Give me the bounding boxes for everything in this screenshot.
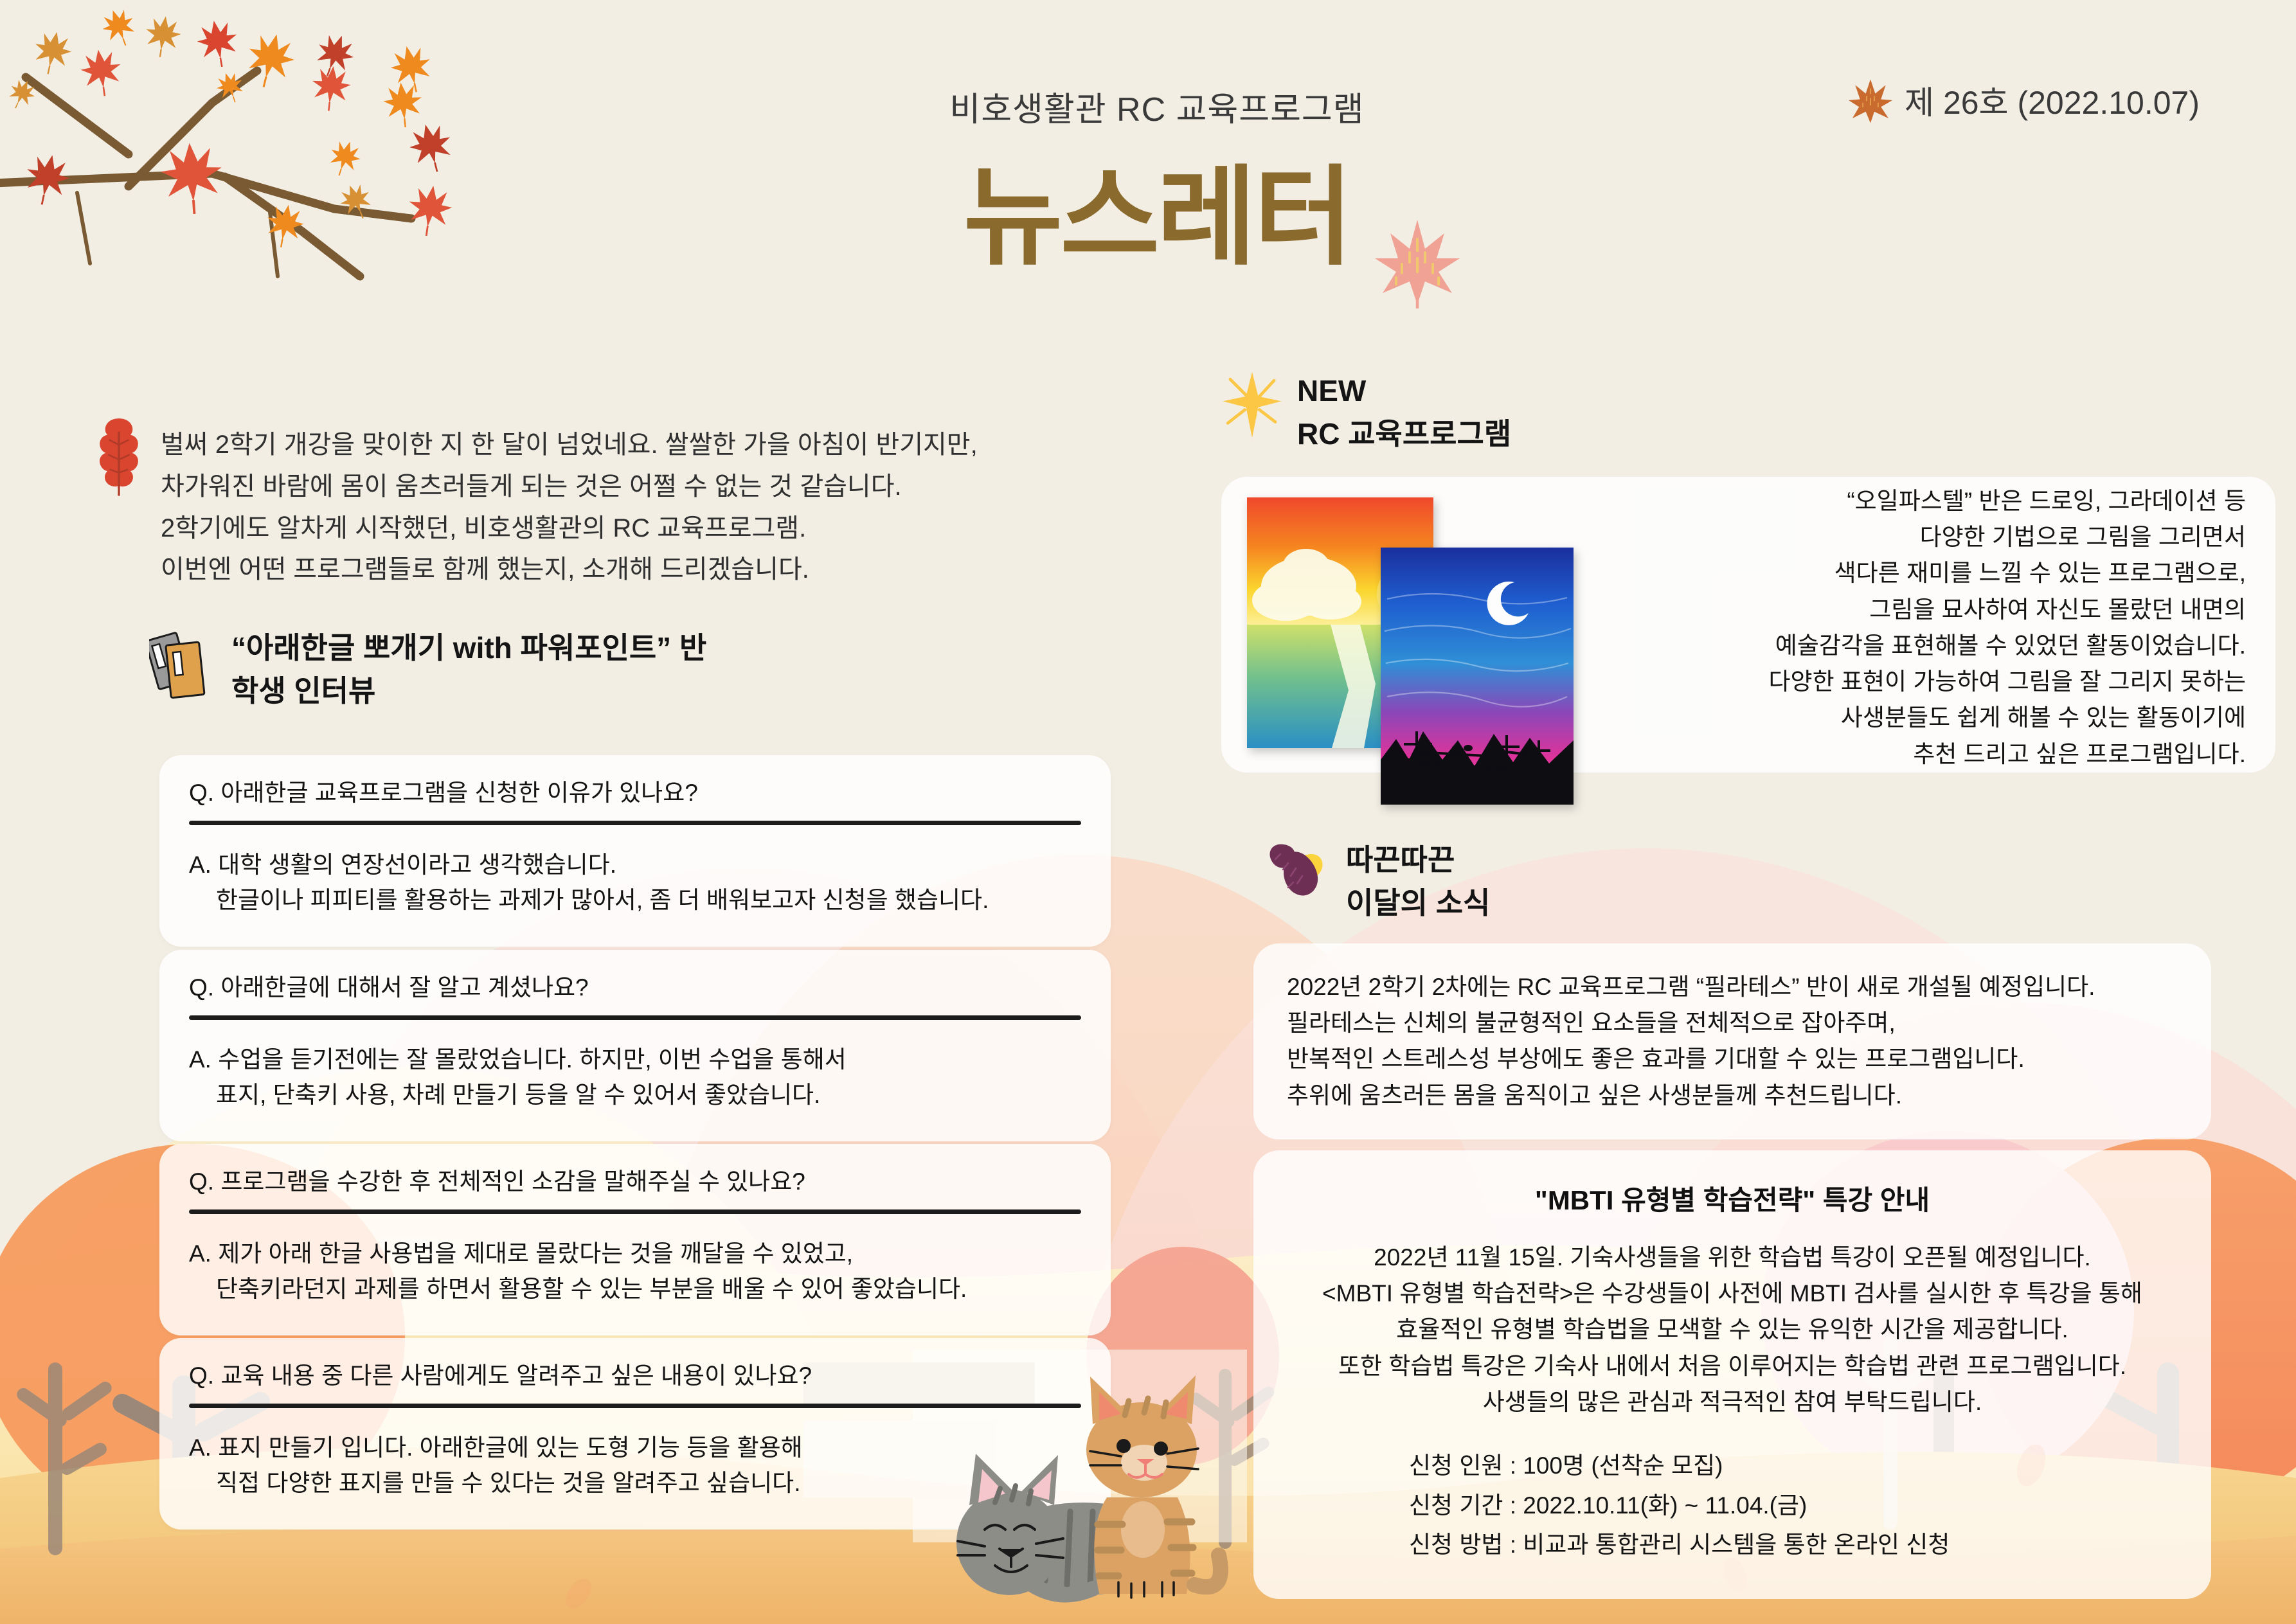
newprogram-line-2: 다양한 기법으로 그림을 그리면서: [1920, 524, 2246, 550]
news-section-heading: 따끈따끈 이달의 소식: [1265, 839, 1490, 924]
maple-leaf-icon: [1369, 212, 1466, 308]
news-body: 2022년 2학기 2차에는 RC 교육프로그램 “필라테스” 반이 새로 개설…: [1287, 969, 2178, 1114]
books-icon: [149, 627, 217, 701]
apply-method: 신청 방법 : 비교과 통합관리 시스템을 통한 온라인 신청: [1409, 1525, 2178, 1564]
news-heading-line2: 이달의 소식: [1346, 882, 1490, 925]
qa-answer-line1: A. 수업을 듣기전에는 잘 몰랐었습니다. 하지만, 이번 수업을 통해서: [189, 1046, 847, 1073]
issue-label: 제 26호 (2022.10.07): [1905, 77, 2200, 123]
qa-question: Q. 아래한글 교육프로그램을 신청한 이유가 있나요?: [189, 777, 1081, 809]
news-line-2: 필라테스는 신체의 불균형적인 요소들을 전체적으로 잡아주며,: [1287, 1010, 1896, 1036]
intro-line-2: 차가워진 바람에 몸이 움츠러들게 되는 것은 어쩔 수 없는 것 같습니다.: [161, 466, 1093, 508]
qa-question: Q. 아래한글에 대해서 잘 알고 계셨나요?: [189, 972, 1081, 1004]
interview-section-heading: “아래한글 뽀개기 with 파워포인트” 반 학생 인터뷰: [149, 627, 706, 712]
qa-answer: A. 수업을 듣기전에는 잘 몰랐었습니다. 하지만, 이번 수업을 통해서 표…: [189, 1042, 1081, 1113]
intro-paragraph: 벌써 2학기 개강을 맞이한 지 한 달이 넘었네요. 쌀쌀한 가을 아침이 반…: [161, 424, 1093, 591]
newprogram-body: “오일파스텔” 반은 드로잉, 그라데이션 등 다양한 기법으로 그림을 그리면…: [1616, 483, 2246, 772]
divider: [189, 821, 1081, 825]
mbti-apply-info: 신청 인원 : 100명 (선착순 모집) 신청 기간 : 2022.10.11…: [1287, 1446, 2178, 1564]
newprogram-line-6: 다양한 표현이 가능하여 그림을 잘 그리지 못하는: [1769, 668, 2246, 695]
qa-card: Q. 프로그램을 수강한 후 전체적인 소감을 말해주실 수 있나요? A. 제…: [159, 1144, 1111, 1335]
newprogram-line-8: 추천 드리고 싶은 프로그램입니다.: [1913, 741, 2246, 767]
news-line-1: 2022년 2학기 2차에는 RC 교육프로그램 “필라테스” 반이 새로 개설…: [1287, 974, 2095, 1000]
mbti-line-3: 효율적인 유형별 학습법을 모색할 수 있는 유익한 시간을 제공합니다.: [1396, 1316, 2068, 1343]
sweet-potato-icon: [1265, 839, 1332, 898]
newprogram-line-5: 예술감각을 표현해볼 수 있었던 활동이었습니다.: [1775, 632, 2246, 659]
mbti-title: "MBTI 유형별 학습전략" 특강 안내: [1287, 1179, 2178, 1218]
qa-answer: A. 제가 아래 한글 사용법을 제대로 몰랐다는 것을 깨달을 수 있었고, …: [189, 1236, 1081, 1307]
mbti-body: 2022년 11월 15일. 기숙사생들을 위한 학습법 특강이 오픈될 예정입…: [1287, 1240, 2178, 1420]
newprogram-panel: “오일파스텔” 반은 드로잉, 그라데이션 등 다양한 기법으로 그림을 그리면…: [1221, 477, 2275, 772]
intro-line-4: 이번엔 어떤 프로그램들로 함께 했는지, 소개해 드리겠습니다.: [161, 549, 1093, 591]
kicker-text: 비호생활관 RC 교육프로그램: [848, 82, 1466, 130]
qa-answer-line2: 단축키라던지 과제를 하면서 활용할 수 있는 부분을 배울 수 있어 좋았습니…: [189, 1271, 1081, 1307]
orange-tabby-cat-illustration: [1086, 1375, 1221, 1598]
intro-line-1: 벌써 2학기 개강을 맞이한 지 한 달이 넘었네요. 쌀쌀한 가을 아침이 반…: [161, 424, 1093, 466]
newprogram-line-3: 색다른 재미를 느낄 수 있는 프로그램으로,: [1834, 560, 2246, 586]
mbti-line-2: <MBTI 유형별 학습전략>은 수강생들이 사전에 MBTI 검사를 실시한 …: [1322, 1280, 2142, 1307]
divider: [189, 1015, 1081, 1020]
qa-answer-line1: A. 제가 아래 한글 사용법을 제대로 몰랐다는 것을 깨달을 수 있었고,: [189, 1240, 853, 1267]
qa-answer-line1: A. 대학 생활의 연장선이라고 생각했습니다.: [189, 852, 616, 878]
newprogram-heading-line1: NEW: [1297, 370, 1511, 413]
news-line-4: 추위에 움츠러든 몸을 움직이고 싶은 사생분들께 추천드립니다.: [1287, 1082, 1902, 1109]
qa-answer: A. 대학 생활의 연장선이라고 생각했습니다. 한글이나 피피티를 활용하는 …: [189, 847, 1081, 918]
apply-period: 신청 기간 : 2022.10.11(화) ~ 11.04.(금): [1409, 1486, 2178, 1525]
news-panel: 2022년 2학기 2차에는 RC 교육프로그램 “필라테스” 반이 새로 개설…: [1253, 943, 2211, 1139]
oak-leaf-icon: [93, 415, 145, 497]
news-line-3: 반복적인 스트레스성 부상에도 좋은 효과를 기대할 수 있는 프로그램입니다.: [1287, 1046, 2025, 1072]
newprogram-line-4: 그림을 묘사하여 자신도 몰랐던 내면의: [1869, 596, 2246, 623]
mbti-line-5: 사생들의 많은 관심과 적극적인 참여 부탁드립니다.: [1483, 1389, 1982, 1415]
newprogram-heading-line2: RC 교육프로그램: [1297, 413, 1511, 456]
page-header: 비호생활관 RC 교육프로그램 뉴스레터 제 26호 (2022.10.07): [0, 0, 2296, 334]
apply-headcount: 신청 인원 : 100명 (선착순 모집): [1409, 1446, 2178, 1485]
cats-illustration: [938, 1337, 1337, 1613]
issue-number: 제 26호 (2022.10.07): [1847, 76, 2200, 125]
newprogram-line-1: “오일파스텔” 반은 드로잉, 그라데이션 등: [1847, 488, 2246, 514]
qa-answer-line2: 표지, 단축키 사용, 차례 만들기 등을 알 수 있어서 좋았습니다.: [189, 1077, 1081, 1113]
newprogram-line-7: 사생분들도 쉽게 해볼 수 있는 활동이기에: [1841, 704, 2246, 731]
qa-question: Q. 프로그램을 수강한 후 전체적인 소감을 말해주실 수 있나요?: [189, 1166, 1081, 1198]
divider: [189, 1209, 1081, 1214]
oil-pastel-night-sky-forest: [1381, 548, 1574, 805]
qa-answer-line1: A. 표지 만들기 입니다. 아래한글에 있는 도형 기능 등을 활용해: [189, 1434, 803, 1461]
intro-line-3: 2학기에도 알차게 시작했던, 비호생활관의 RC 교육프로그램.: [161, 508, 1093, 549]
mbti-line-4: 또한 학습법 특강은 기숙사 내에서 처음 이루어지는 학습법 관련 프로그램입…: [1338, 1353, 2126, 1379]
qa-card: Q. 아래한글에 대해서 잘 알고 계셨나요? A. 수업을 듣기전에는 잘 몰…: [159, 950, 1111, 1141]
qa-answer-line2: 한글이나 피피티를 활용하는 과제가 많아서, 좀 더 배워보고자 신청을 했습…: [189, 882, 1081, 918]
news-heading-line1: 따끈따끈: [1346, 839, 1490, 882]
newprogram-section-heading: NEW RC 교육프로그램: [1221, 370, 1511, 455]
qa-card: Q. 아래한글 교육프로그램을 신청한 이유가 있나요? A. 대학 생활의 연…: [159, 755, 1111, 947]
interview-heading-line1: “아래한글 뽀개기 with 파워포인트” 반: [231, 627, 706, 670]
sparkle-star-icon: [1221, 370, 1283, 440]
mbti-panel: "MBTI 유형별 학습전략" 특강 안내 2022년 11월 15일. 기숙사…: [1253, 1150, 2211, 1599]
mbti-line-1: 2022년 11월 15일. 기숙사생들을 위한 학습법 특강이 오픈될 예정입…: [1374, 1244, 2091, 1271]
maple-leaf-icon: [1847, 76, 1894, 125]
interview-heading-line2: 학생 인터뷰: [231, 670, 706, 713]
